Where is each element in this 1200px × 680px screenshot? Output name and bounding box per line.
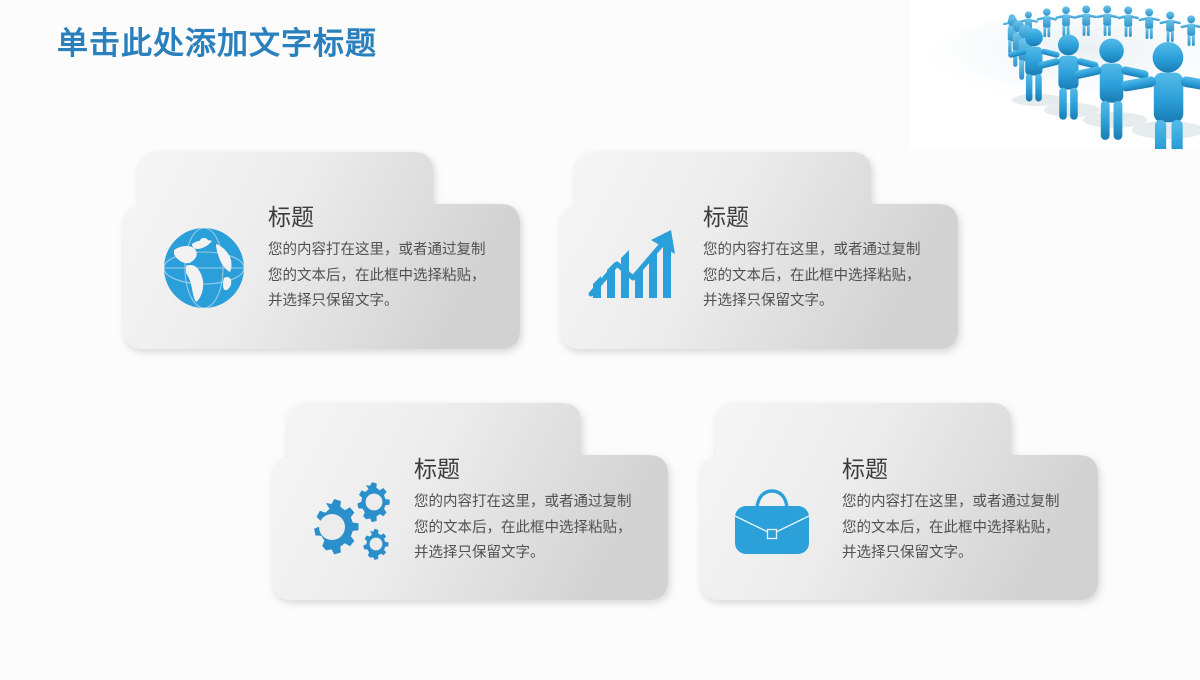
gears-icon	[290, 473, 398, 569]
briefcase-icon	[717, 476, 827, 568]
card-text-block: 标题 您的内容打在这里，或者通过复制 您的文本后，在此框中选择粘贴， 并选择只保…	[414, 454, 664, 567]
card-body-text: 您的内容打在这里，或者通过复制 您的文本后，在此框中选择粘贴， 并选择只保留文字…	[268, 238, 518, 315]
slide-canvas: 单击此处添加文字标题	[0, 0, 1200, 680]
info-card-4[interactable]: 标题 您的内容打在这里，或者通过复制 您的文本后，在此框中选择粘贴， 并选择只保…	[695, 398, 1103, 605]
card-text-block: 标题 您的内容打在这里，或者通过复制 您的文本后，在此框中选择粘贴， 并选择只保…	[842, 454, 1092, 567]
card-text-block: 标题 您的内容打在这里，或者通过复制 您的文本后，在此框中选择粘贴， 并选择只保…	[703, 202, 953, 315]
globe-icon	[156, 220, 252, 316]
card-heading: 标题	[842, 454, 1092, 484]
info-card-3[interactable]: 标题 您的内容打在这里，或者通过复制 您的文本后，在此框中选择粘贴， 并选择只保…	[267, 398, 673, 605]
people-chain-image	[910, 0, 1200, 149]
page-title: 单击此处添加文字标题	[57, 22, 377, 66]
card-heading: 标题	[703, 202, 953, 232]
card-text-block: 标题 您的内容打在这里，或者通过复制 您的文本后，在此框中选择粘贴， 并选择只保…	[268, 202, 518, 315]
bar-chart-growth-icon	[583, 220, 683, 316]
card-heading: 标题	[414, 454, 664, 484]
card-body-text: 您的内容打在这里，或者通过复制 您的文本后，在此框中选择粘贴， 并选择只保留文字…	[414, 490, 664, 567]
info-card-2[interactable]: 标题 您的内容打在这里，或者通过复制 您的文本后，在此框中选择粘贴， 并选择只保…	[555, 147, 963, 354]
card-body-text: 您的内容打在这里，或者通过复制 您的文本后，在此框中选择粘贴， 并选择只保留文字…	[703, 238, 953, 315]
info-card-1[interactable]: 标题 您的内容打在这里，或者通过复制 您的文本后，在此框中选择粘贴， 并选择只保…	[118, 147, 525, 354]
card-heading: 标题	[268, 202, 518, 232]
card-body-text: 您的内容打在这里，或者通过复制 您的文本后，在此框中选择粘贴， 并选择只保留文字…	[842, 490, 1092, 567]
